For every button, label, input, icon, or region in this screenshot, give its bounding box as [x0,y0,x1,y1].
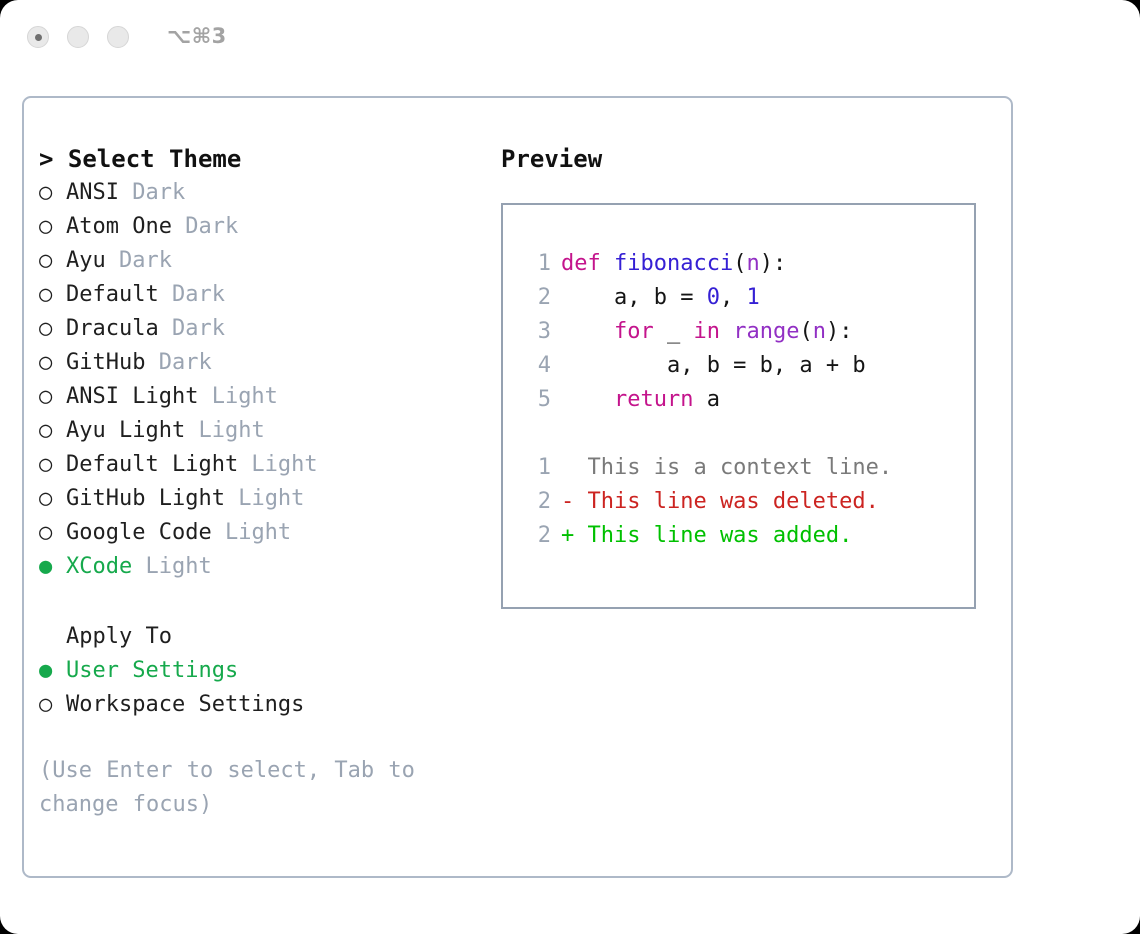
theme-item[interactable]: ○ANSI Light Light [39,380,479,414]
code-token: n [746,251,759,276]
theme-item-label: Atom One [66,214,172,239]
theme-item[interactable]: ○Dracula Dark [39,312,479,346]
code-token: ): [826,319,853,344]
theme-item-label: XCode [66,554,132,579]
radio-unselected-icon: ○ [39,176,66,210]
theme-item-label: Default Light [66,452,238,477]
theme-item-variant: Light [198,384,277,409]
theme-item-variant: Light [225,486,304,511]
diff-line-text: This is a context line. [561,455,892,480]
keyboard-shortcut-label: ⌥⌘3 [167,24,227,48]
theme-item-variant: Dark [106,248,172,273]
code-token: def [561,251,614,276]
code-line: 5 return a [521,383,892,417]
theme-item-label: Ayu [66,248,106,273]
theme-item-variant: Light [238,452,317,477]
radio-unselected-icon: ○ [39,312,66,346]
code-token: , [720,285,747,310]
line-number: 4 [521,349,551,383]
theme-item-label: Dracula [66,316,159,341]
preview-column: Preview 1def fibonacci(n):2 a, b = 0, 13… [501,142,1001,609]
app-window: ⌥⌘3 > Select Theme ○ANSI Dark○Atom One D… [0,0,1140,934]
code-token: range [733,319,799,344]
window-dot-1-button[interactable] [27,26,49,48]
diff-line-text: - This line was deleted. [561,489,879,514]
diff-line: 2+ This line was added. [521,519,892,553]
code-token: 0 [707,285,720,310]
radio-unselected-icon: ○ [39,482,66,516]
code-token: return [614,387,693,412]
radio-unselected-icon: ○ [39,516,66,550]
record-dot-icon [35,34,42,41]
code-token: a, b = [561,285,707,310]
code-token [720,319,733,344]
radio-unselected-icon: ○ [39,380,66,414]
theme-item-variant: Dark [172,214,238,239]
theme-item[interactable]: ○Default Dark [39,278,479,312]
code-token: n [813,319,826,344]
line-number: 2 [521,519,551,553]
theme-item[interactable]: ●XCode Light [39,550,479,584]
code-token [561,319,614,344]
radio-unselected-icon: ○ [39,448,66,482]
code-token: a, b = b, a + b [561,353,866,378]
line-number: 2 [521,281,551,315]
theme-item-variant: Light [132,554,211,579]
apply-to-header: Apply To [39,620,479,654]
panel-columns: > Select Theme ○ANSI Dark○Atom One Dark○… [24,98,1011,876]
theme-item[interactable]: ○Default Light Light [39,448,479,482]
line-number: 5 [521,383,551,417]
theme-item[interactable]: ○Ayu Dark [39,244,479,278]
apply-to-item[interactable]: ●User Settings [39,654,479,688]
radio-unselected-icon: ○ [39,414,66,448]
window-dot-3-button[interactable] [107,26,129,48]
radio-unselected-icon: ○ [39,278,66,312]
apply-to-item[interactable]: ○Workspace Settings [39,688,479,722]
theme-item[interactable]: ○Google Code Light [39,516,479,550]
theme-item[interactable]: ○ANSI Dark [39,176,479,210]
code-line: 2 a, b = 0, 1 [521,281,892,315]
code-line: 1def fibonacci(n): [521,247,892,281]
diff-line: 2- This line was deleted. [521,485,892,519]
theme-item-variant: Dark [145,350,211,375]
apply-to-item-label: User Settings [66,658,238,683]
radio-unselected-icon: ○ [39,346,66,380]
line-number: 3 [521,315,551,349]
line-number: 2 [521,485,551,519]
theme-item-label: ANSI [66,180,119,205]
theme-item[interactable]: ○Ayu Light Light [39,414,479,448]
preview-box: 1def fibonacci(n):2 a, b = 0, 13 for _ i… [501,203,976,609]
code-token: a [693,387,720,412]
theme-item-label: Ayu Light [66,418,185,443]
list-spacer [39,584,479,620]
preview-header: Preview [501,142,1001,176]
code-token: ( [733,251,746,276]
theme-item-variant: Light [185,418,264,443]
radio-unselected-icon: ○ [39,688,66,722]
code-token: fibonacci [614,251,733,276]
theme-selection-column: > Select Theme ○ANSI Dark○Atom One Dark○… [39,142,479,822]
select-theme-header: > Select Theme [39,142,479,176]
diff-line-text: + This line was added. [561,523,852,548]
main-panel: > Select Theme ○ANSI Dark○Atom One Dark○… [22,96,1013,878]
theme-item[interactable]: ○GitHub Light Light [39,482,479,516]
apply-to-item-label: Workspace Settings [66,692,304,717]
code-diff-separator [521,417,892,451]
theme-item-label: Google Code [66,520,212,545]
theme-item[interactable]: ○GitHub Dark [39,346,479,380]
code-token: ): [760,251,787,276]
theme-item[interactable]: ○Atom One Dark [39,210,479,244]
theme-list[interactable]: ○ANSI Dark○Atom One Dark○Ayu Dark○Defaul… [39,176,479,584]
code-line: 3 for _ in range(n): [521,315,892,349]
theme-item-label: GitHub [66,350,145,375]
theme-item-label: GitHub Light [66,486,225,511]
hint-spacer [39,722,479,754]
theme-item-variant: Light [212,520,291,545]
code-token: ( [799,319,812,344]
theme-item-variant: Dark [119,180,185,205]
apply-to-list[interactable]: ●User Settings○Workspace Settings [39,654,479,722]
window-dot-2-button[interactable] [67,26,89,48]
code-preview: 1def fibonacci(n):2 a, b = 0, 13 for _ i… [521,247,892,553]
theme-item-variant: Dark [159,316,225,341]
code-token: 1 [746,285,759,310]
diff-line: 1 This is a context line. [521,451,892,485]
code-token: _ [654,319,694,344]
line-number: 1 [521,247,551,281]
radio-unselected-icon: ○ [39,210,66,244]
line-number: 1 [521,451,551,485]
theme-item-label: Default [66,282,159,307]
code-token [561,387,614,412]
radio-selected-icon: ● [39,550,66,584]
radio-selected-icon: ● [39,654,66,688]
theme-item-label: ANSI Light [66,384,198,409]
window-controls [27,26,129,48]
theme-item-variant: Dark [159,282,225,307]
code-token: for [614,319,654,344]
title-bar: ⌥⌘3 [0,0,1140,78]
code-line: 4 a, b = b, a + b [521,349,892,383]
code-token: in [693,319,720,344]
keyboard-hint-text: (Use Enter to select, Tab to change focu… [39,754,443,822]
radio-unselected-icon: ○ [39,244,66,278]
